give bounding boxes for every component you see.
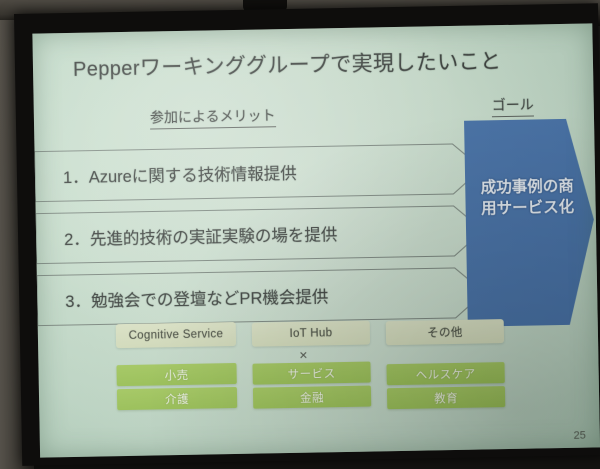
benefit-chevron-3: 3．勉強会での登壇などPR機会提供 [37, 265, 486, 327]
page-title-jp: ワーキンググループで実現したいこと [140, 50, 502, 80]
service-box-cognitive-service: Cognitive Service [116, 322, 236, 348]
pentagon-arrow-icon [462, 115, 598, 329]
benefit-label-1: Azureに関する技術情報提供 [89, 165, 297, 187]
benefit-number-3: 3． [65, 293, 91, 311]
benefit-text-1: 1．Azureに関する技術情報提供 [63, 160, 297, 188]
benefit-label-3: 勉強会での登壇などPR機会提供 [91, 288, 329, 310]
benefit-chevron-1: 1．Azureに関する技術情報提供 [34, 141, 483, 203]
goal-shape [462, 115, 598, 329]
benefit-text-3: 3．勉強会での登壇などPR機会提供 [65, 283, 329, 312]
benefit-chevron-2: 2．先進的技術の実証実験の場を提供 [36, 203, 485, 265]
merit-column-label: 参加によるメリット [150, 105, 276, 129]
goal-column-label: ゴール [492, 94, 534, 117]
benefit-text-2: 2．先進的技術の実証実験の場を提供 [64, 221, 338, 250]
goal-text: 成功事例の商用サービス化 [473, 176, 582, 221]
presentation-slide: Pepperワーキンググループで実現したいこと 参加によるメリット ゴール 1．… [32, 23, 600, 457]
service-box-other: その他 [386, 319, 504, 345]
projection-screen-frame: Pepperワーキンググループで実現したいこと 参加によるメリット ゴール 1．… [14, 3, 600, 466]
industry-box-retail: 小売 [116, 363, 236, 386]
page-title-en: Pepper [73, 58, 140, 81]
benefit-label-2: 先進的技術の実証実験の場を提供 [90, 226, 338, 249]
benefit-number-1: 1． [63, 169, 89, 187]
benefit-number-2: 2． [64, 231, 90, 249]
multiply-symbol: × [299, 347, 307, 363]
industry-box-healthcare: ヘルスケア [386, 362, 504, 385]
industry-box-nursing: 介護 [117, 387, 237, 410]
page-title: Pepperワーキンググループで実現したいこと [73, 45, 533, 83]
page-number: 25 [573, 430, 585, 442]
industry-box-finance: 金融 [253, 386, 371, 409]
industry-box-service: サービス [252, 362, 370, 385]
service-box-iot-hub: IoT Hub [252, 321, 370, 347]
industry-box-education: 教育 [387, 386, 505, 409]
